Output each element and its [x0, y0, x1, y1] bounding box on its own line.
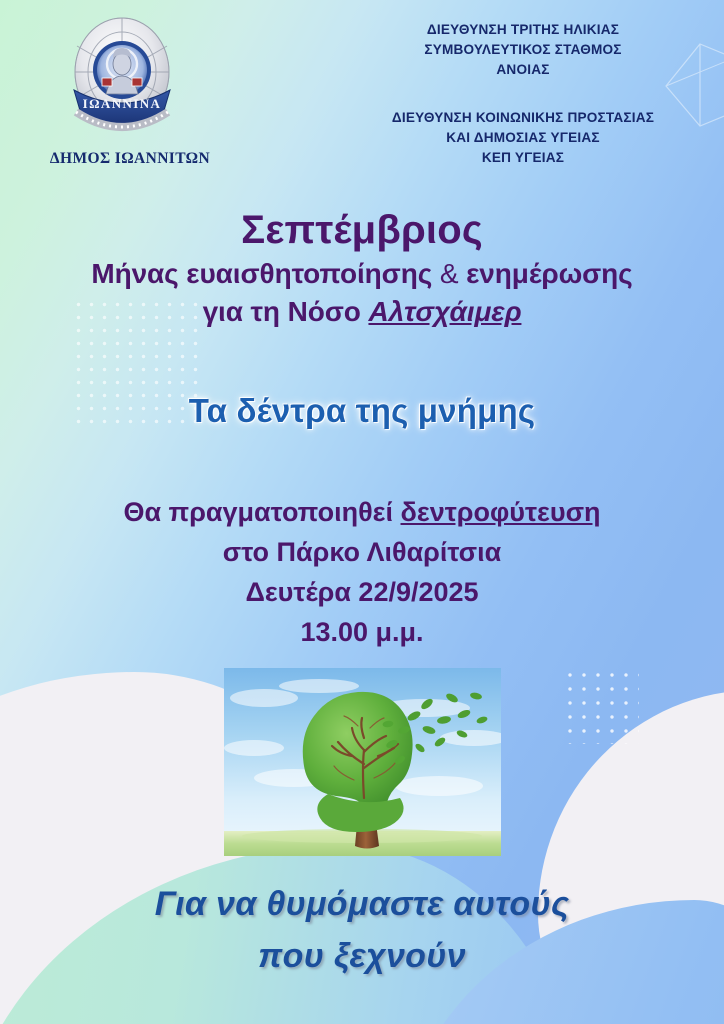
closing-tagline: Για να θυμόμαστε αυτούς που ξεχνούν	[0, 878, 724, 982]
poster-header: ΙΩΑΝΝΙΝΑ ΔΗΜΟΣ ΙΩΑΝΝΙΤΩΝ ΔΙΕΥΘΥΝΣΗ ΤΡΙΤΗ…	[0, 0, 724, 195]
poster-canvas: ΙΩΑΝΝΙΝΑ ΔΗΜΟΣ ΙΩΑΝΝΙΤΩΝ ΔΙΕΥΘΥΝΣΗ ΤΡΙΤΗ…	[0, 0, 724, 1024]
ioannina-seal-icon: ΙΩΑΝΝΙΝΑ	[58, 12, 186, 148]
department-line: ΚΑΙ ΔΗΜΟΣΙΑΣ ΥΓΕΙΑΣ	[338, 128, 708, 148]
dot-grid-pattern-right	[563, 668, 639, 744]
event-activity-prefix: Θα πραγματοποιηθεί	[123, 497, 400, 527]
awareness-disease-prefix: για τη Νόσο	[203, 296, 369, 327]
event-details-block: Θα πραγματοποιηθεί δεντροφύτευση στο Πάρ…	[0, 492, 724, 652]
department-block-elderly: ΔΙΕΥΘΥΝΣΗ ΤΡΙΤΗΣ ΗΛΙΚΙΑΣ ΣΥΜΒΟΥΛΕΥΤΙΚΟΣ …	[338, 20, 708, 80]
awareness-month-title: Σεπτέμβριος	[0, 205, 724, 255]
svg-text:ΙΩΑΝΝΙΝΑ: ΙΩΑΝΝΙΝΑ	[83, 96, 162, 111]
awareness-month-block: Σεπτέμβριος Μήνας ευαισθητοποίησης & ενη…	[0, 205, 724, 331]
closing-tagline-line-2: που ξεχνούν	[0, 930, 724, 982]
department-line: ΣΥΜΒΟΥΛΕΥΤΙΚΟΣ ΣΤΑΘΜΟΣ	[338, 40, 708, 60]
awareness-subtitle-part-a: Μήνας ευαισθητοποίησης	[91, 258, 440, 289]
event-photo	[224, 668, 501, 856]
department-line: ΑΝΟΙΑΣ	[338, 60, 708, 80]
awareness-disease-name: Αλτσχάιμερ	[368, 296, 521, 327]
department-line: ΔΙΕΥΘΥΝΣΗ ΚΟΙΝΩΝΙΚΗΣ ΠΡΟΣΤΑΣΙΑΣ	[338, 108, 708, 128]
department-line: ΚΕΠ ΥΓΕΙΑΣ	[338, 148, 708, 168]
event-detail-line-date: Δευτέρα 22/9/2025	[0, 572, 724, 612]
event-detail-line-time: 13.00 μ.μ.	[0, 612, 724, 652]
awareness-subtitle-line-2: για τη Νόσο Αλτσχάιμερ	[0, 293, 724, 331]
awareness-subtitle-line-1: Μήνας ευαισθητοποίησης & ενημέρωσης	[0, 255, 724, 293]
department-line: ΔΙΕΥΘΥΝΣΗ ΤΡΙΤΗΣ ΗΛΙΚΙΑΣ	[338, 20, 708, 40]
tree-head-illustration-icon	[224, 668, 501, 856]
department-block-social-protection: ΔΙΕΥΘΥΝΣΗ ΚΟΙΝΩΝΙΚΗΣ ΠΡΟΣΤΑΣΙΑΣ ΚΑΙ ΔΗΜΟ…	[338, 108, 708, 168]
event-detail-line-location: στο Πάρκο Λιθαρίτσια	[0, 532, 724, 572]
municipality-logo: ΙΩΑΝΝΙΝΑ	[58, 12, 186, 148]
event-title: Τα δέντρα της μνήμης	[0, 392, 724, 430]
closing-tagline-line-1: Για να θυμόμαστε αυτούς	[0, 878, 724, 930]
event-detail-line-activity: Θα πραγματοποιηθεί δεντροφύτευση	[0, 492, 724, 532]
event-activity-name: δεντροφύτευση	[401, 497, 601, 527]
ampersand-glyph: &	[440, 258, 459, 289]
awareness-subtitle-part-b: ενημέρωσης	[458, 258, 632, 289]
municipality-name-label: ΔΗΜΟΣ ΙΩΑΝΝΙΤΩΝ	[20, 150, 240, 168]
